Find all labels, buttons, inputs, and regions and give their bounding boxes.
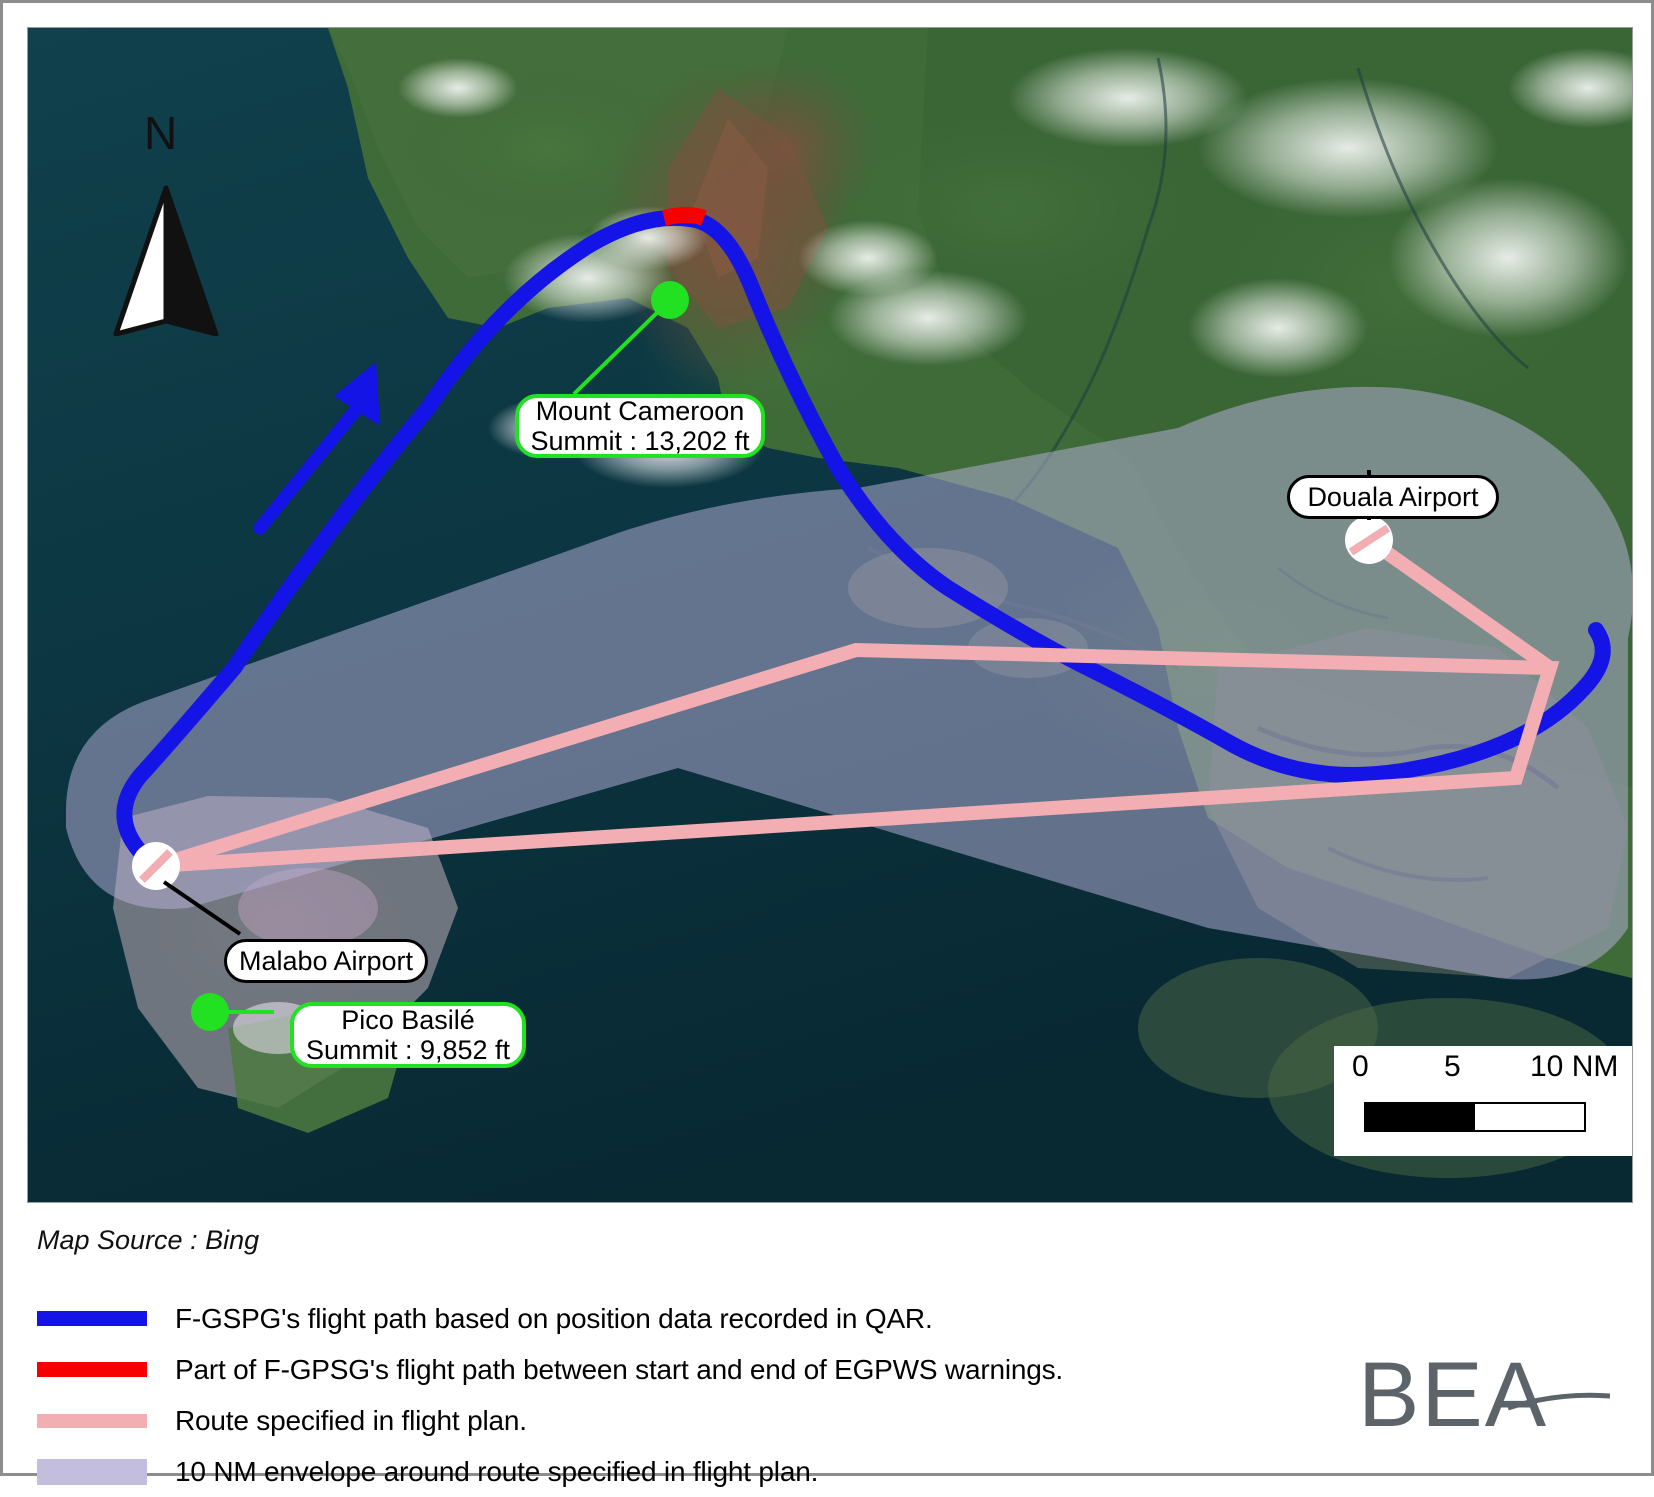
map-graphic <box>28 28 1632 1202</box>
airport-marker-malabo <box>132 842 180 890</box>
legend-swatch-flight-path <box>37 1311 147 1326</box>
bea-logo: BEA <box>1358 1348 1610 1444</box>
legend-label-flight-path: F-GSPG's flight path based on position d… <box>175 1303 933 1335</box>
scale-tick-5: 5 <box>1444 1050 1461 1084</box>
callout-mount-cameroon[interactable]: Mount Cameroon Summit : 13,202 ft <box>515 394 765 458</box>
north-arrow-letter: N <box>144 106 177 160</box>
legend-item-egpws-segment: Part of F-GPSG's flight path between sta… <box>37 1344 1337 1395</box>
callout-malabo-airport[interactable]: Malabo Airport <box>224 939 428 983</box>
legend-label-egpws-segment: Part of F-GPSG's flight path between sta… <box>175 1354 1063 1386</box>
north-arrow: N <box>98 106 248 336</box>
pico-basile-name: Pico Basilé <box>341 1005 475 1035</box>
airport-marker-douala <box>1345 516 1393 564</box>
map-panel[interactable]: N Mount Cameroon Summit : 13,202 ft Pico… <box>27 27 1633 1203</box>
scale-bar: 0 5 10 NM <box>1334 1046 1633 1156</box>
legend-item-planned-route: Route specified in flight plan. <box>37 1395 1337 1446</box>
legend-label-envelope: 10 NM envelope around route specified in… <box>175 1456 818 1488</box>
scale-tick-0: 0 <box>1352 1050 1369 1084</box>
scale-bar-track <box>1364 1102 1586 1132</box>
malabo-airport-name: Malabo Airport <box>239 946 413 976</box>
pico-basile-summit: Summit : 9,852 ft <box>306 1035 510 1065</box>
callout-douala-airport[interactable]: Douala Airport <box>1287 475 1499 519</box>
legend-swatch-egpws-segment <box>37 1362 147 1377</box>
bea-logo-text: BEA <box>1358 1348 1548 1444</box>
legend: F-GSPG's flight path based on position d… <box>37 1293 1337 1497</box>
legend-swatch-envelope <box>37 1459 147 1485</box>
callout-pico-basile[interactable]: Pico Basilé Summit : 9,852 ft <box>290 1002 526 1068</box>
scale-tick-10: 10 NM <box>1530 1050 1618 1084</box>
egpws-warning-segment <box>664 215 704 218</box>
douala-airport-name: Douala Airport <box>1307 482 1478 512</box>
mount-cameroon-summit: Summit : 13,202 ft <box>530 426 749 456</box>
map-source-note: Map Source : Bing <box>37 1225 259 1256</box>
mount-cameroon-name: Mount Cameroon <box>536 396 745 426</box>
legend-label-planned-route: Route specified in flight plan. <box>175 1405 527 1437</box>
scale-bar-ticks: 0 5 10 NM <box>1334 1050 1633 1090</box>
legend-item-envelope: 10 NM envelope around route specified in… <box>37 1446 1337 1497</box>
figure-frame: N Mount Cameroon Summit : 13,202 ft Pico… <box>0 0 1654 1476</box>
scale-bar-filled-half <box>1366 1104 1475 1130</box>
legend-item-flight-path: F-GSPG's flight path based on position d… <box>37 1293 1337 1344</box>
legend-swatch-planned-route <box>37 1414 147 1428</box>
